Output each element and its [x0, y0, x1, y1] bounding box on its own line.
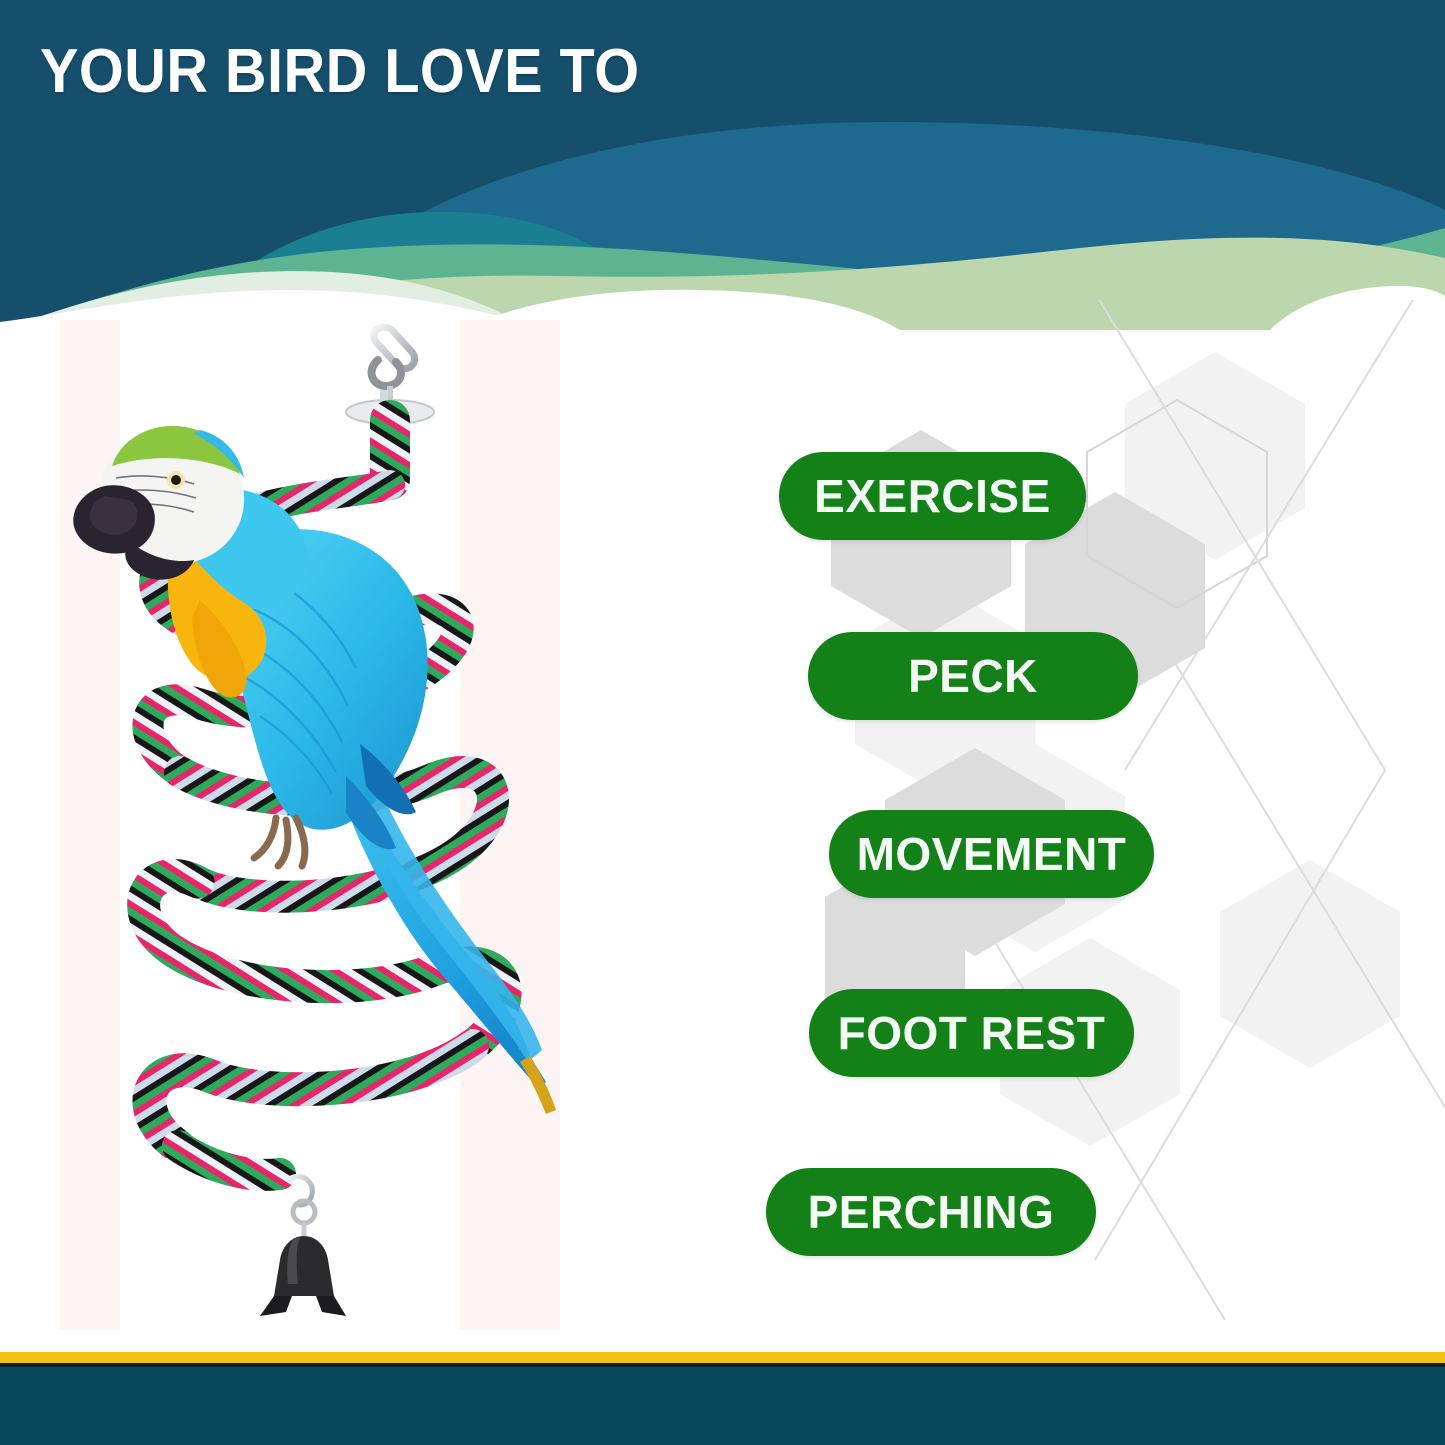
feature-pill-exercise[interactable]: EXERCISE — [779, 452, 1086, 540]
bird-eye-pupil — [171, 475, 181, 485]
feature-pill-movement[interactable]: MOVEMENT — [829, 810, 1154, 898]
footer-teal-band — [0, 1367, 1445, 1445]
product-photo — [60, 320, 560, 1330]
hexagon-faint — [1220, 860, 1400, 1068]
bird-beak-highlight — [90, 496, 138, 535]
feature-pill-peck[interactable]: PECK — [808, 632, 1138, 720]
feature-pill-perching[interactable]: PERCHING — [766, 1168, 1096, 1256]
page-title: YOUR BIRD LOVE TO — [40, 36, 640, 107]
bird-tail-tip — [520, 1056, 556, 1114]
footer-gold-band — [0, 1352, 1445, 1363]
bell-icon — [260, 1236, 346, 1316]
bird-foot — [254, 818, 305, 866]
product-illustration — [60, 320, 560, 1330]
promo-infographic-page: YOUR BIRD LOVE TO — [0, 0, 1445, 1445]
feature-pill-foot-rest[interactable]: FOOT REST — [809, 989, 1134, 1077]
bell-hanger — [288, 1176, 315, 1236]
bird-tail-feather-2 — [362, 790, 542, 1062]
carabiner-clip-icon — [372, 327, 415, 406]
